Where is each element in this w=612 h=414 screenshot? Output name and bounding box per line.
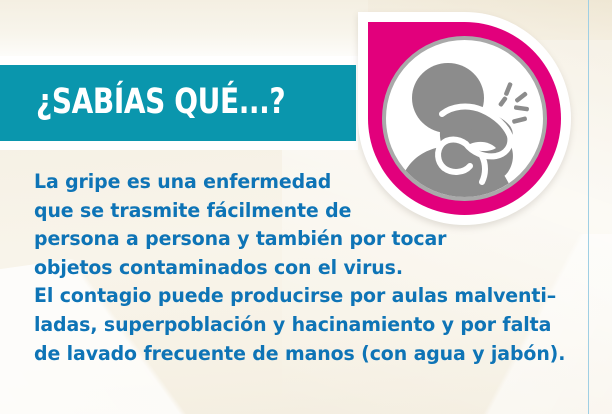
body-line: persona a persona y también por tocar	[34, 225, 563, 254]
headline-banner-frame: ¿SABÍAS QUÉ...?	[0, 56, 358, 150]
body-line: que se trasmite fácilmente de	[34, 197, 563, 226]
body-line: El contagio puede producirse por aulas m…	[34, 282, 563, 311]
body-line: La gripe es una enfermedad	[34, 168, 563, 197]
body-line: de lavado frecuente de manos (con agua y…	[34, 340, 563, 369]
body-copy: La gripe es una enfermedad que se trasmi…	[34, 168, 579, 368]
vertical-rule	[588, 0, 589, 414]
body-line: ladas, superpoblación y hacinamiento y p…	[34, 311, 563, 340]
banner-title: ¿SABÍAS QUÉ...?	[36, 85, 348, 120]
poster-card: ¿SABÍAS QUÉ...?	[0, 0, 612, 414]
body-line: objetos contaminados con el virus.	[34, 254, 563, 283]
headline-banner: ¿SABÍAS QUÉ...?	[0, 65, 356, 141]
banner-title-text: ¿SABÍAS QUÉ...?	[36, 85, 285, 120]
